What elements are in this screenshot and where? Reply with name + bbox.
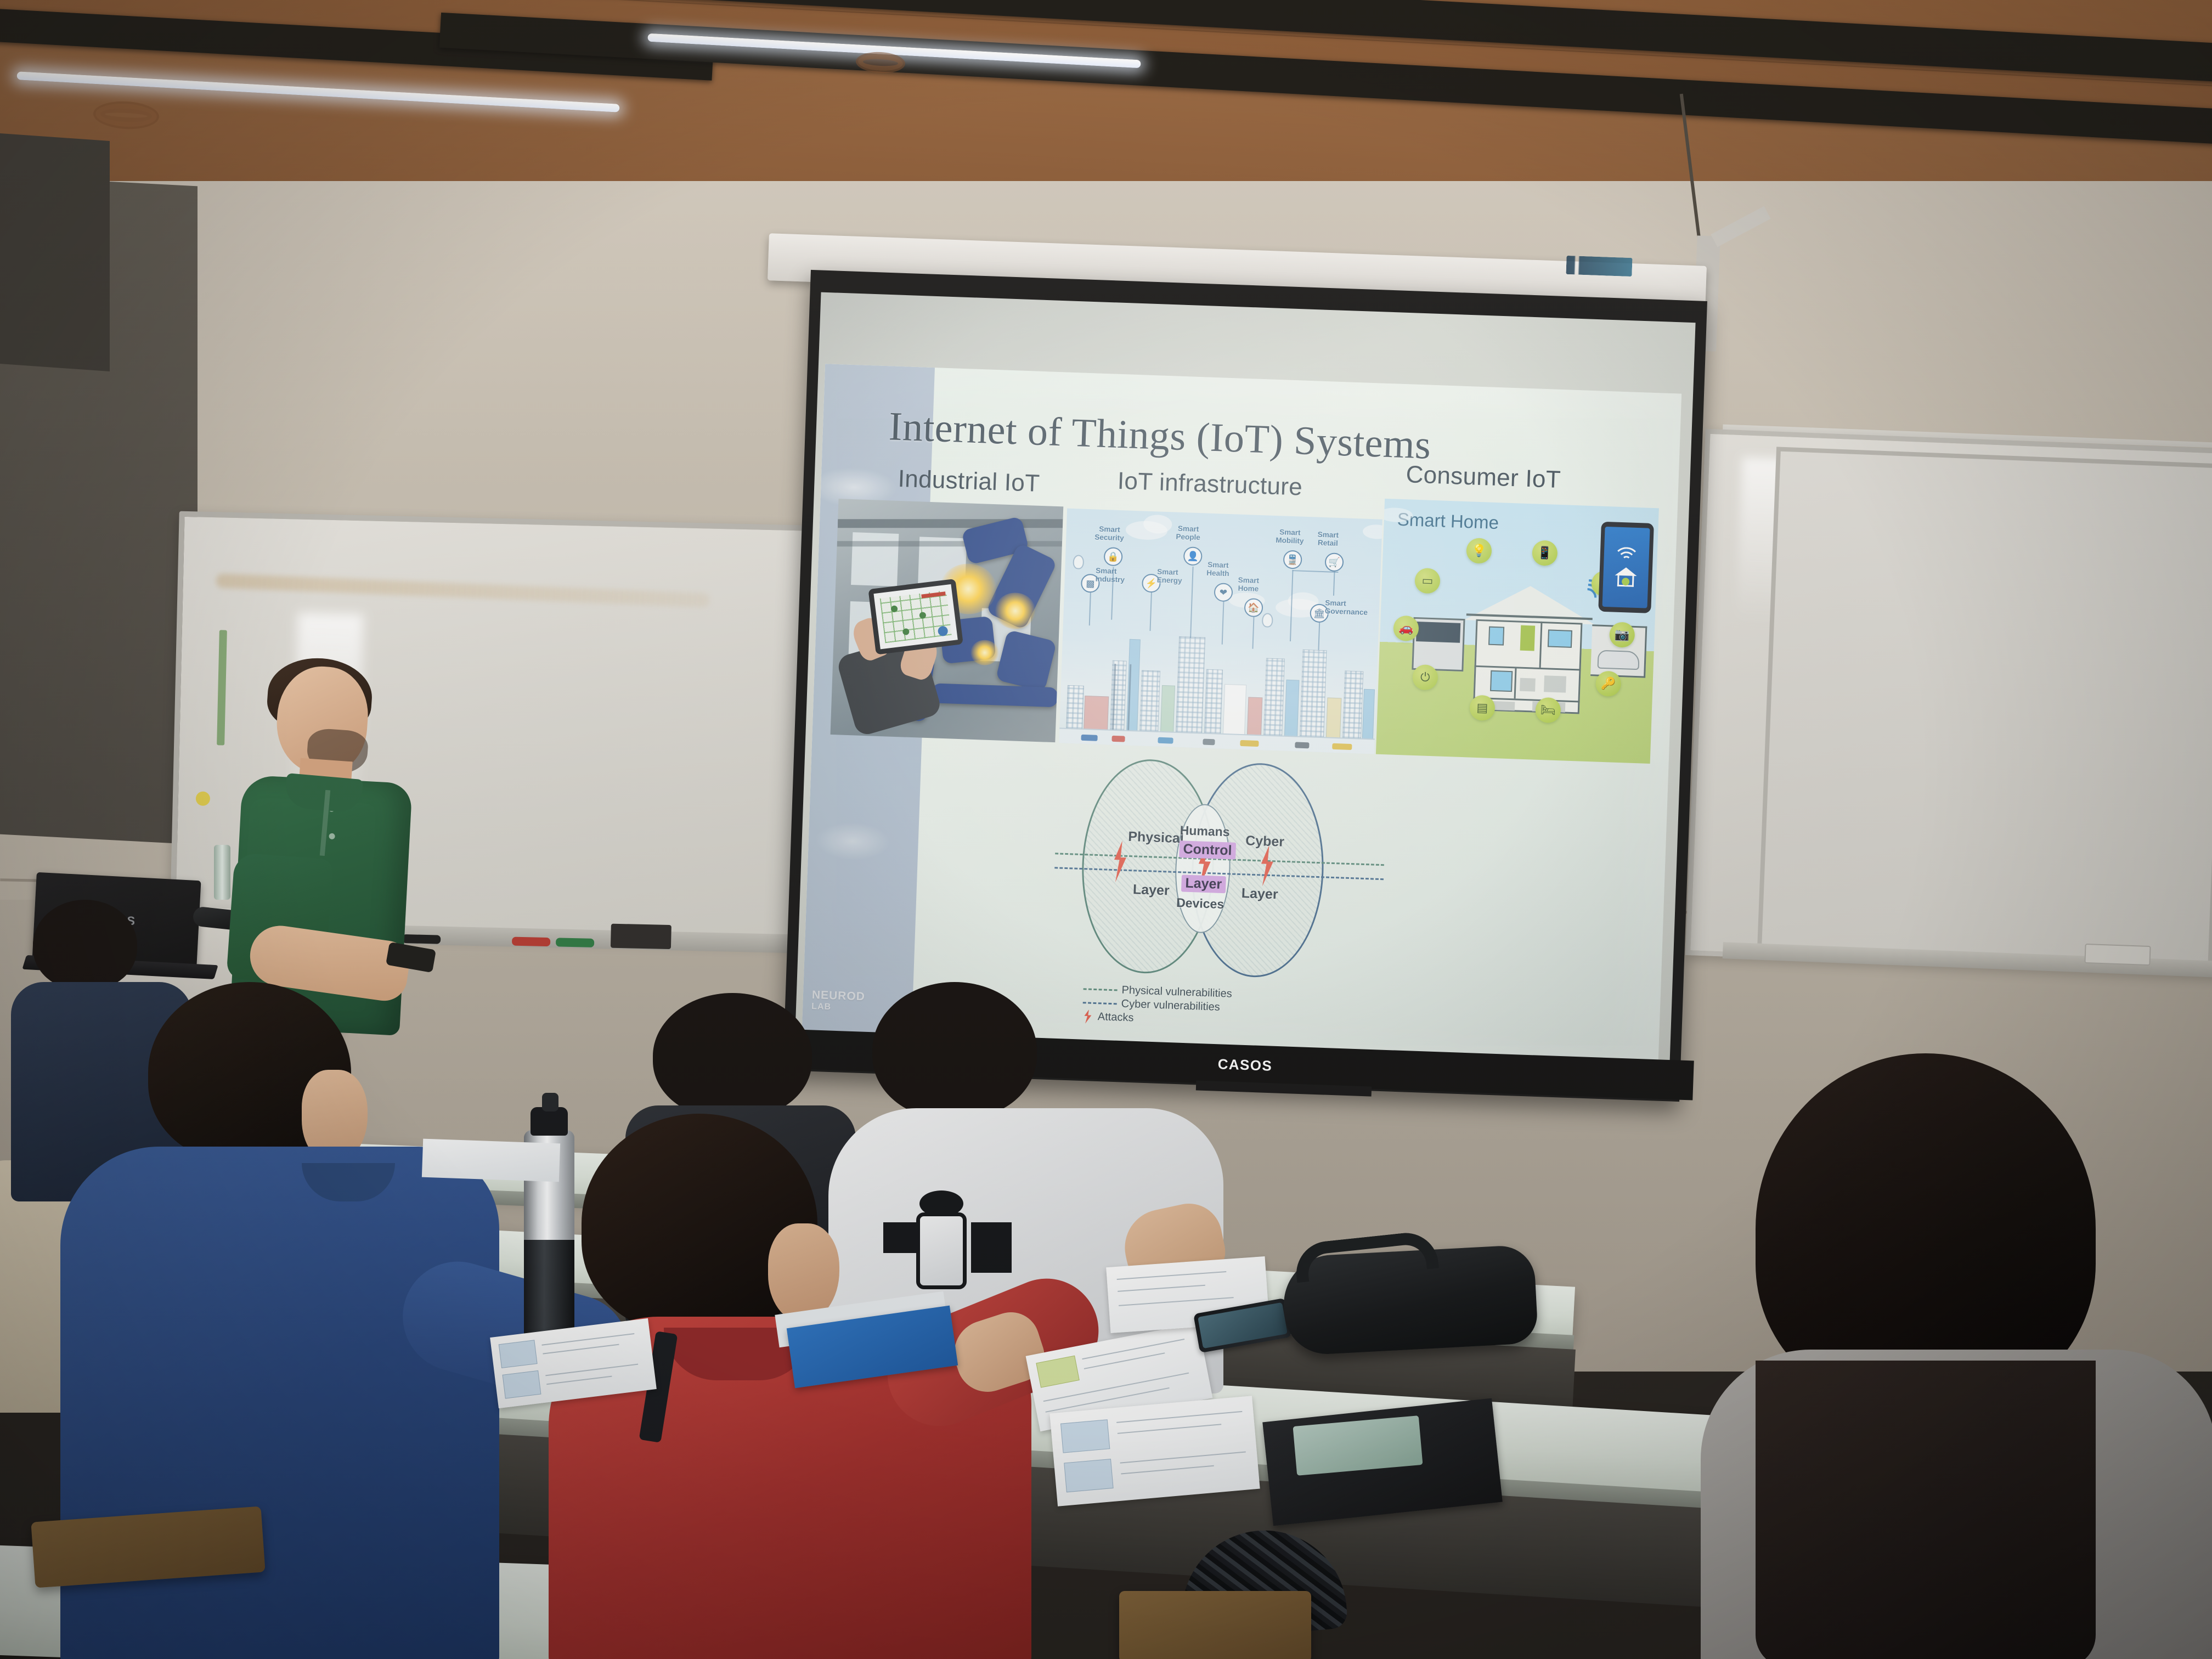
- marker-black[interactable]: [402, 934, 441, 944]
- industrial-iot-photo: [831, 499, 1064, 742]
- section-label-infrastructure: IoT infrastructure: [1117, 467, 1303, 501]
- venn-label-cyber: Cyber: [1245, 833, 1285, 850]
- node-smart-people-icon: 👤: [1183, 546, 1203, 566]
- home-icon-washer: ⏻: [1412, 664, 1438, 691]
- node-smart-mobility-icon: 🚆: [1283, 550, 1302, 569]
- chair-front-right[interactable]: [1119, 1591, 1311, 1659]
- node-label-smart-people: SmartPeople: [1176, 524, 1200, 542]
- home-icon-sofa: 🛏: [1535, 697, 1561, 724]
- venn-label-physical-layer: Layer: [1132, 882, 1170, 899]
- node-smart-home-icon: 🏠: [1244, 598, 1263, 617]
- node-label-smart-industry: SmartIndustry: [1095, 567, 1125, 584]
- smart-home-label: Smart Home: [1397, 509, 1499, 533]
- tablet-home-icon: [1615, 567, 1637, 587]
- industrial-tablet: [868, 579, 963, 655]
- screen-housing-brand-logo: [1566, 256, 1632, 276]
- marker-green[interactable]: [556, 938, 594, 947]
- home-icon-radiator: ▤: [1469, 695, 1496, 721]
- home-icon-tablet: 📱: [1532, 540, 1558, 566]
- water-bottle-spout[interactable]: [542, 1093, 558, 1111]
- side-wall-left-upper: [0, 133, 110, 371]
- node-smart-security-icon: 🔒: [1104, 547, 1123, 566]
- whiteboard-magnet-yellow[interactable]: [196, 791, 211, 806]
- iot-infrastructure-graphic: ▩ SmartIndustry 🔒 SmartSecurity ⚡ SmartE…: [1059, 509, 1383, 754]
- node-label-smart-retail: SmartRetail: [1317, 531, 1339, 548]
- whiteboard-eraser-right[interactable]: [2084, 944, 2151, 966]
- node-smart-retail-icon: 🛒: [1324, 552, 1344, 572]
- home-icon-lightbulb: 💡: [1466, 538, 1492, 564]
- venn-chip-control: Control: [1179, 840, 1236, 860]
- section-label-industrial: Industrial IoT: [898, 465, 1040, 498]
- venn-diagram: Physical Layer Cyber Layer Humans Contro…: [1062, 757, 1376, 981]
- venn-label-physical: Physical: [1128, 829, 1184, 847]
- marker-red[interactable]: [512, 937, 550, 947]
- home-icon-key: 🔑: [1595, 671, 1622, 697]
- section-label-consumer: Consumer IoT: [1406, 461, 1561, 494]
- node-label-smart-health: SmartHealth: [1206, 561, 1229, 578]
- slide-title: Internet of Things (IoT) Systems: [888, 403, 1432, 469]
- smart-home-graphic: Smart Home: [1376, 499, 1659, 764]
- notebook-white-left[interactable]: [422, 1139, 560, 1182]
- venn-label-devices: Devices: [1176, 895, 1224, 912]
- node-label-smart-security: SmartSecurity: [1094, 524, 1124, 542]
- node-label-smart-energy: SmartEnergy: [1156, 567, 1182, 585]
- whiteboard-eraser[interactable]: [611, 924, 672, 949]
- projected-slide: NEUROD LAB Internet of Things (IoT) Syst…: [802, 364, 1681, 1074]
- venn-label-cyber-layer: Layer: [1241, 885, 1278, 902]
- venn-label-humans: Humans: [1180, 823, 1230, 839]
- classroom-scene: NEUROD LAB Internet of Things (IoT) Syst…: [0, 0, 2212, 1659]
- whiteboard-right-front[interactable]: [1757, 447, 2212, 974]
- node-label-smart-home: SmartHome: [1238, 576, 1259, 594]
- student-grey-cardigan: [1690, 1053, 2212, 1659]
- smart-home-tablet: [1598, 522, 1654, 613]
- home-icon-remote: ▭: [1414, 568, 1441, 594]
- node-label-smart-governance: SmartGovernance: [1325, 599, 1368, 617]
- water-bottle-podium[interactable]: [214, 845, 230, 900]
- whiteboard-magnet-green[interactable]: [217, 630, 227, 745]
- venn-chip-layer: Layer: [1181, 874, 1226, 893]
- handout-row4-center[interactable]: [1049, 1396, 1260, 1506]
- node-label-smart-mobility: SmartMobility: [1276, 528, 1304, 545]
